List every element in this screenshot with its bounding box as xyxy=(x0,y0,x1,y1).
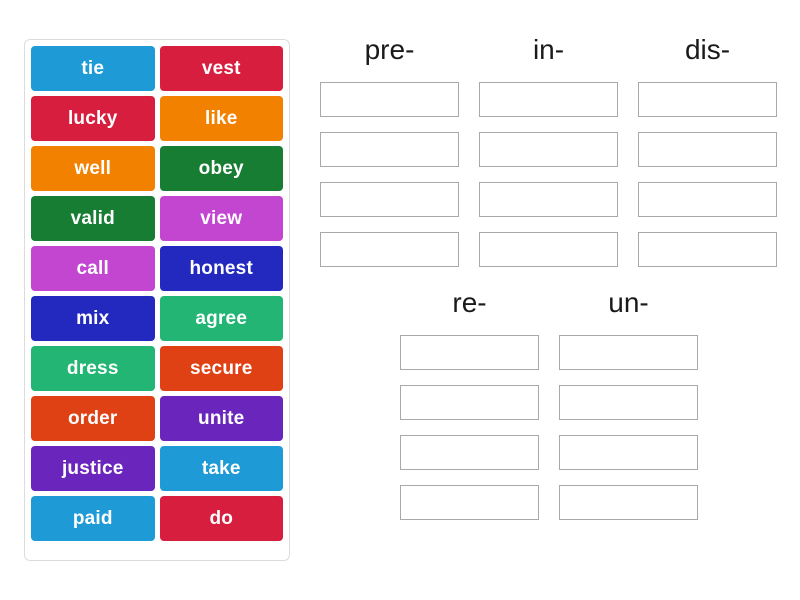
drop-slot[interactable] xyxy=(320,232,459,267)
word-tile[interactable]: take xyxy=(160,446,284,491)
word-tile[interactable]: unite xyxy=(160,396,284,441)
word-tile-grid: tievestluckylikewellobeyvalidviewcallhon… xyxy=(31,46,283,541)
drop-column: dis- xyxy=(638,36,777,267)
drop-slot[interactable] xyxy=(400,485,539,520)
drop-slot-list xyxy=(479,82,618,267)
drop-slot[interactable] xyxy=(559,335,698,370)
drop-slot[interactable] xyxy=(479,82,618,117)
drop-slot-list xyxy=(320,82,459,267)
word-tile[interactable]: lucky xyxy=(31,96,155,141)
word-tile[interactable]: tie xyxy=(31,46,155,91)
word-tile[interactable]: call xyxy=(31,246,155,291)
drop-slot[interactable] xyxy=(559,435,698,470)
drop-column-header: un- xyxy=(608,289,648,317)
word-tile[interactable]: obey xyxy=(160,146,284,191)
word-tile[interactable]: paid xyxy=(31,496,155,541)
word-tile[interactable]: valid xyxy=(31,196,155,241)
drop-slot[interactable] xyxy=(638,232,777,267)
drop-column-header: pre- xyxy=(365,36,415,64)
drop-column: re- xyxy=(400,289,539,520)
drop-column: pre- xyxy=(320,36,459,267)
drop-slot[interactable] xyxy=(479,182,618,217)
drop-slot[interactable] xyxy=(400,435,539,470)
word-tile[interactable]: view xyxy=(160,196,284,241)
drop-slot-list xyxy=(400,335,539,520)
drop-slot[interactable] xyxy=(638,182,777,217)
drop-slot-list xyxy=(559,335,698,520)
drop-slot[interactable] xyxy=(320,82,459,117)
drop-column: un- xyxy=(559,289,698,520)
word-bank-panel: tievestluckylikewellobeyvalidviewcallhon… xyxy=(24,39,290,561)
word-tile[interactable]: well xyxy=(31,146,155,191)
drop-zone-area: pre-in-dis- re-un- xyxy=(310,36,790,520)
word-tile[interactable]: dress xyxy=(31,346,155,391)
drop-column-header: in- xyxy=(533,36,564,64)
word-tile[interactable]: vest xyxy=(160,46,284,91)
drop-slot[interactable] xyxy=(559,385,698,420)
word-tile[interactable]: justice xyxy=(31,446,155,491)
drop-slot[interactable] xyxy=(638,132,777,167)
drop-slot[interactable] xyxy=(400,335,539,370)
drop-column: in- xyxy=(479,36,618,267)
word-tile[interactable]: agree xyxy=(160,296,284,341)
drop-slot-list xyxy=(638,82,777,267)
drop-slot[interactable] xyxy=(479,232,618,267)
drop-group-1: pre-in-dis- xyxy=(320,36,790,267)
drop-slot[interactable] xyxy=(320,132,459,167)
drop-group-2: re-un- xyxy=(400,289,790,520)
word-tile[interactable]: mix xyxy=(31,296,155,341)
drop-column-header: dis- xyxy=(685,36,730,64)
drop-slot[interactable] xyxy=(400,385,539,420)
word-tile[interactable]: secure xyxy=(160,346,284,391)
drop-slot[interactable] xyxy=(638,82,777,117)
word-tile[interactable]: like xyxy=(160,96,284,141)
drop-slot[interactable] xyxy=(559,485,698,520)
word-tile[interactable]: honest xyxy=(160,246,284,291)
word-tile[interactable]: do xyxy=(160,496,284,541)
word-tile[interactable]: order xyxy=(31,396,155,441)
drop-slot[interactable] xyxy=(320,182,459,217)
drop-column-header: re- xyxy=(452,289,486,317)
drop-slot[interactable] xyxy=(479,132,618,167)
